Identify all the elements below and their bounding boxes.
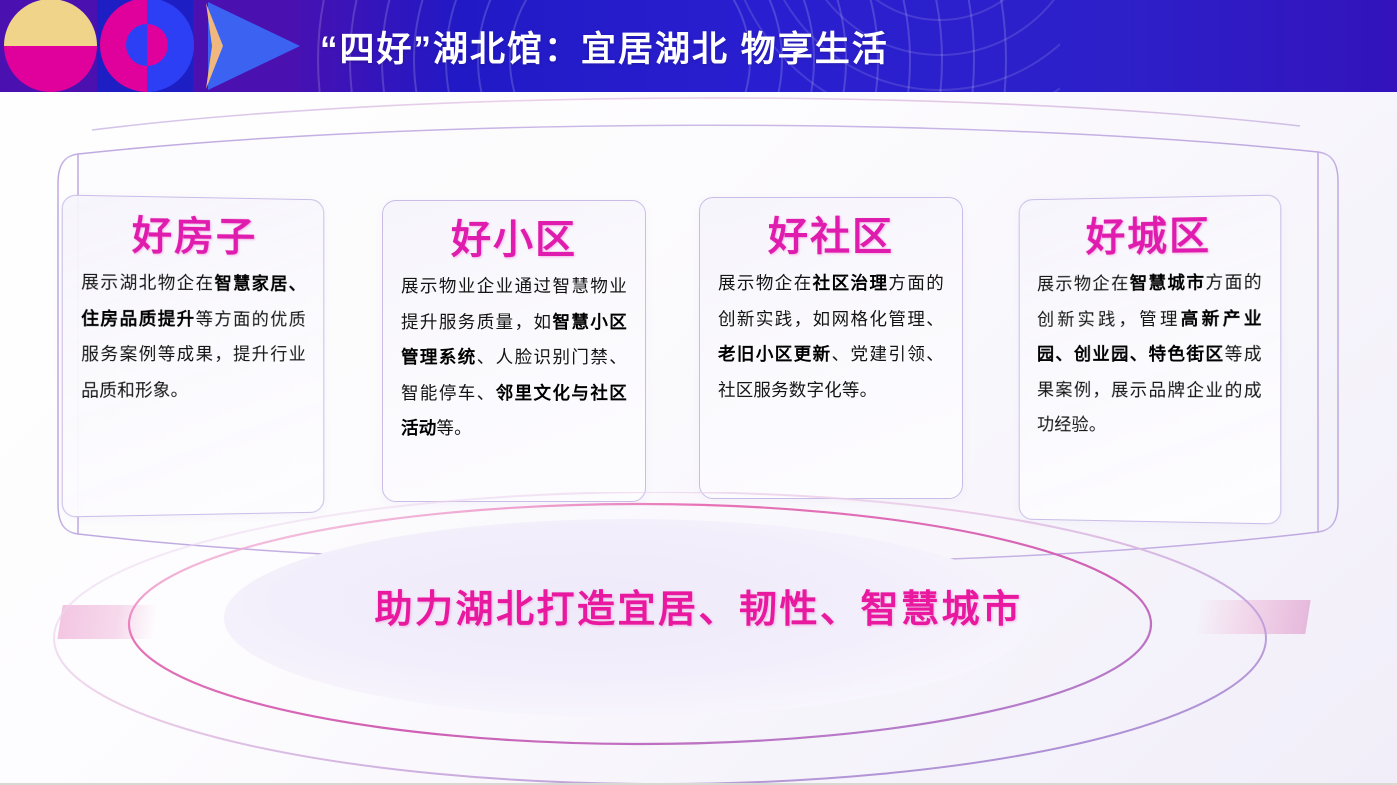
- card-title: 好房子: [81, 212, 306, 261]
- split-donut-icon: [100, 0, 194, 92]
- half-circle-gold-magenta-icon: [4, 0, 97, 92]
- card-title: 好社区: [718, 214, 944, 260]
- summary-banner: 助力湖北打造宜居、韧性、智慧城市: [0, 492, 1397, 785]
- card-body: 展示物企在智慧城市方面的创新实践，管理高新产业园、创业园、特色街区等成果案例，展…: [1037, 265, 1262, 445]
- card-title: 好城区: [1037, 212, 1262, 261]
- banner-text: 助力湖北打造宜居、韧性、智慧城市: [0, 578, 1397, 633]
- slide-header: “四好”湖北馆：宜居湖北 物享生活: [0, 0, 1397, 92]
- card-hao-cheng-qu[interactable]: 好城区 展示物企在智慧城市方面的创新实践，管理高新产业园、创业园、特色街区等成果…: [1019, 194, 1282, 524]
- play-arrow-icon: [196, 0, 300, 92]
- page-title: “四好”湖北馆：宜居湖北 物享生活: [320, 0, 889, 92]
- card-hao-xiao-qu[interactable]: 好小区 展示物业企业通过智慧物业提升服务质量，如智慧小区管理系统、人脸识别门禁、…: [382, 200, 646, 502]
- slide-body: 好房子 展示湖北物企在智慧家居、住房品质提升等方面的优质服务案例等成果，提升行业…: [0, 92, 1397, 785]
- banner-ellipse-decoration: [0, 492, 1397, 785]
- card-body: 展示物企在社区治理方面的创新实践，如网格化管理、老旧小区更新、党建引领、社区服务…: [718, 266, 944, 408]
- slide-canvas: “四好”湖北馆：宜居湖北 物享生活: [0, 0, 1397, 785]
- card-hao-fang-zi[interactable]: 好房子 展示湖北物企在智慧家居、住房品质提升等方面的优质服务案例等成果，提升行业…: [62, 195, 325, 518]
- card-body: 展示湖北物企在智慧家居、住房品质提升等方面的优质服务案例等成果，提升行业品质和形…: [81, 265, 306, 409]
- brand-logo: [0, 0, 300, 92]
- card-hao-she-qu[interactable]: 好社区 展示物企在社区治理方面的创新实践，如网格化管理、老旧小区更新、党建引领、…: [699, 197, 963, 499]
- chevron-accent-icon: [204, 2, 224, 90]
- card-title: 好小区: [401, 217, 627, 263]
- card-body: 展示物业企业通过智慧物业提升服务质量，如智慧小区管理系统、人脸识别门禁、智能停车…: [401, 269, 627, 447]
